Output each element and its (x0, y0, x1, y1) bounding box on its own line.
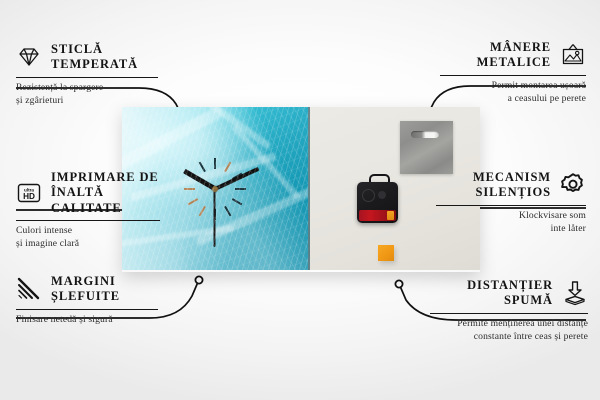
feature-header: MECANISM SILENȚIOS (436, 170, 586, 201)
feature-title: MARGINI ȘLEFUITE (51, 274, 120, 305)
feature-header: ultra HD IMPRIMARE DE ÎNALTĂ CALITATE (16, 170, 160, 216)
feature-header: DISTANȚIER SPUMĂ (430, 278, 588, 309)
feature-subtitle: Permit montarea ușoară a ceasului pe per… (440, 80, 586, 105)
metal-hanger-plate (400, 121, 453, 174)
clock-center-cap (212, 186, 218, 192)
hour-hand (183, 168, 217, 190)
feature-header: MARGINI ȘLEFUITE (16, 274, 158, 305)
mechanism-body (357, 182, 398, 223)
svg-text:HD: HD (23, 192, 35, 201)
divider (16, 309, 158, 311)
feature-title: IMPRIMARE DE ÎNALTĂ CALITATE (51, 170, 160, 216)
quartz-mechanism (357, 180, 398, 224)
hour-mark (188, 172, 243, 205)
feature-metal-handles: MÂNERE METALICE Permit montarea ușoară a… (440, 40, 586, 105)
hour-mark (199, 161, 232, 216)
hour-mark (199, 161, 232, 216)
feature-tempered-glass: STICLĂ TEMPERATĂ Rezistență la spargere … (16, 42, 158, 107)
arrow-press-layer-icon (562, 280, 588, 306)
minute-hand (214, 166, 259, 190)
hour-mark (214, 158, 216, 220)
feature-title: DISTANȚIER SPUMĂ (467, 278, 553, 309)
feather-streak (196, 185, 310, 246)
feature-subtitle: Klockvisare som inte låter (436, 210, 586, 235)
feather-streak (122, 107, 224, 172)
infographic-stage: STICLĂ TEMPERATĂ Rezistență la spargere … (0, 0, 600, 400)
hour-mark (184, 188, 246, 190)
feature-foam-spacer: DISTANȚIER SPUMĂ Permite menținerea unei… (430, 278, 588, 343)
hour-mark (188, 172, 243, 205)
feature-high-quality-print: ultra HD IMPRIMARE DE ÎNALTĂ CALITATE Cu… (16, 170, 160, 251)
wall-mount-frame-icon (560, 42, 586, 68)
divider (16, 77, 158, 79)
foam-spacer (378, 245, 394, 261)
feature-silent-mechanism: MECANISM SILENȚIOS Klockvisare som inte … (436, 170, 586, 235)
gear-icon (560, 172, 586, 198)
product-image (122, 107, 480, 272)
hour-mark (188, 172, 243, 205)
diamond-icon (16, 44, 42, 70)
feather-streak (178, 107, 271, 150)
hour-mark (188, 172, 243, 205)
feature-header: STICLĂ TEMPERATĂ (16, 42, 158, 73)
feature-subtitle: Permite menținerea unei distanțe constan… (430, 318, 588, 343)
divider (430, 313, 588, 315)
hour-mark (199, 161, 232, 216)
hour-mark (199, 161, 232, 216)
feature-header: MÂNERE METALICE (440, 40, 586, 71)
wire-dot-spacer (395, 280, 402, 287)
feature-subtitle: Finisare netedă și sigură (16, 314, 158, 327)
feature-polished-edges: MARGINI ȘLEFUITE Finisare netedă și sigu… (16, 274, 158, 327)
polished-edges-icon (16, 276, 42, 302)
feature-subtitle: Rezistență la spargere și zgârieturi (16, 82, 158, 107)
divider (436, 205, 586, 207)
wire-dot-edges (195, 276, 202, 283)
ultra-hd-icon: ultra HD (16, 180, 42, 206)
feature-title: MÂNERE METALICE (477, 40, 551, 71)
feather-streak (232, 124, 301, 199)
divider (16, 220, 160, 222)
feature-title: STICLĂ TEMPERATĂ (51, 42, 138, 73)
feature-title: MECANISM SILENȚIOS (473, 170, 551, 201)
second-hand (214, 189, 216, 247)
divider (440, 75, 586, 77)
feature-subtitle: Culori intense și imagine clară (16, 225, 160, 250)
battery (359, 210, 396, 221)
hour-mark (214, 158, 216, 220)
hour-mark (184, 188, 246, 190)
